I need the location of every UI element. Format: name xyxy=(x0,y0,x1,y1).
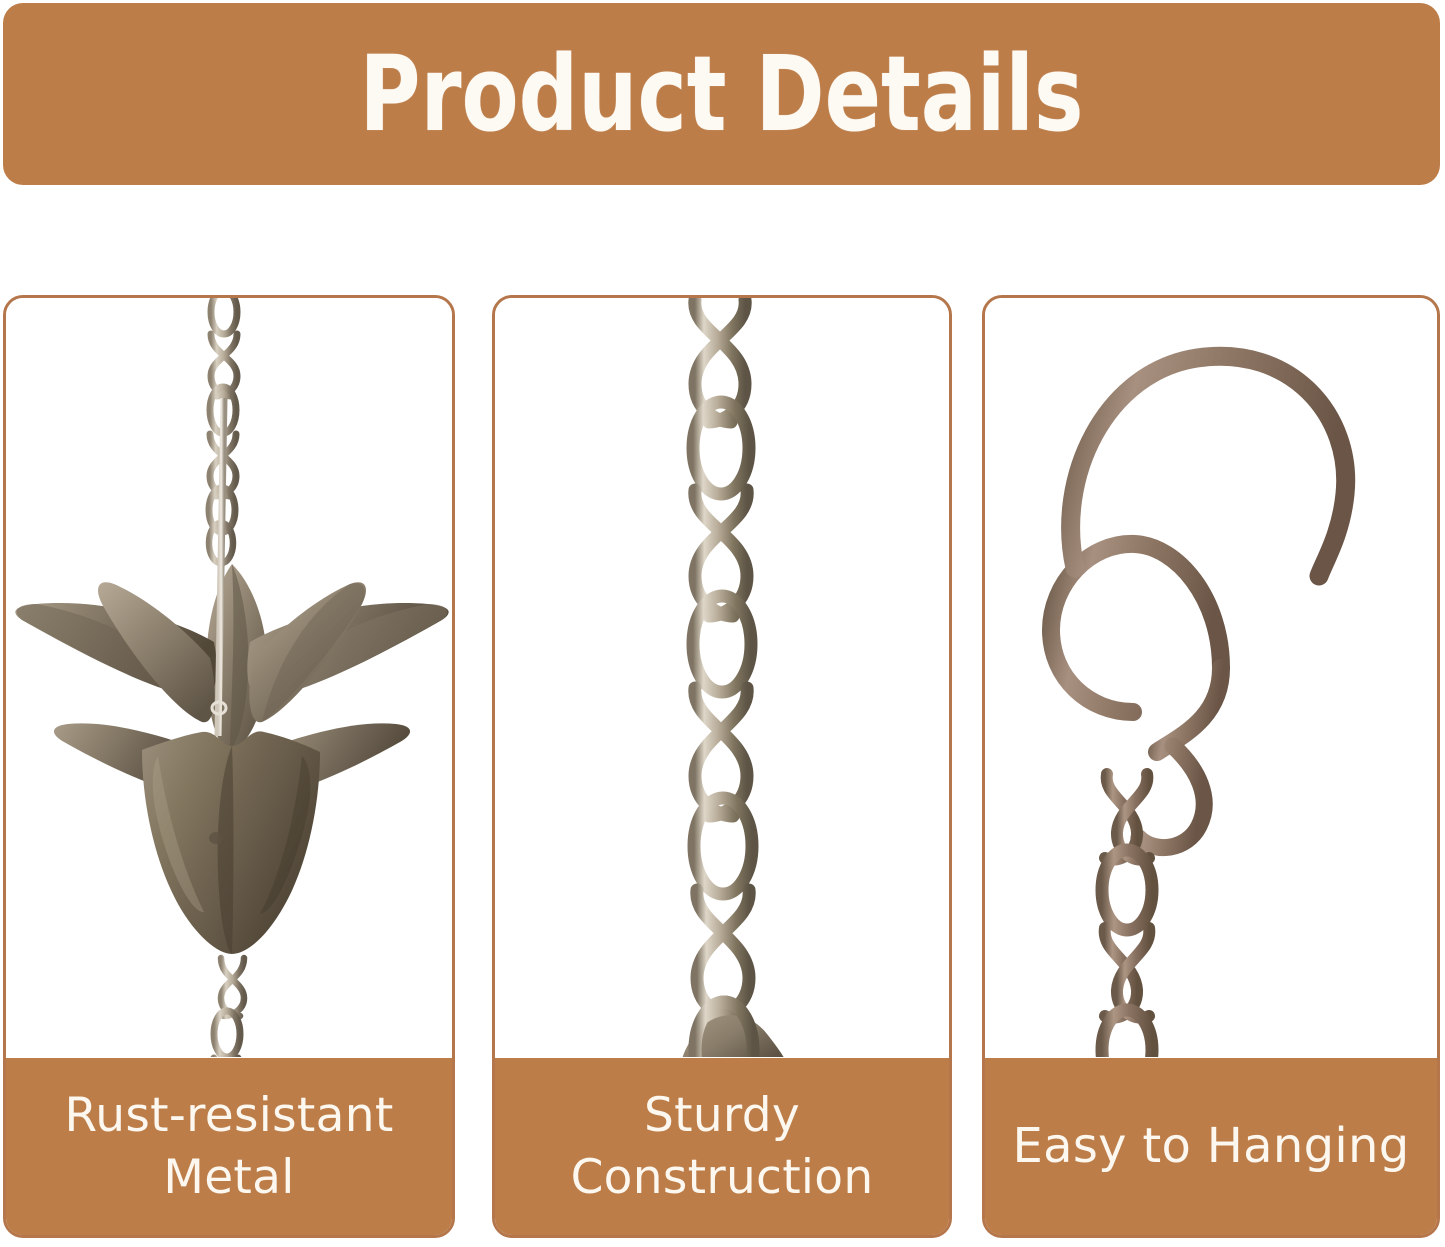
chain-attached xyxy=(1102,774,1152,1057)
chain-links-icon xyxy=(495,298,949,1057)
caption-bar-sturdy-construction: SturdyConstruction xyxy=(494,1058,950,1236)
detail-card-sturdy-construction[interactable]: SturdyConstruction xyxy=(492,295,952,1238)
caption-label: Rust-resistantMetal xyxy=(52,1085,405,1209)
product-detail-panels: Rust-resistantMetal xyxy=(0,295,1445,1240)
chain-lower xyxy=(214,958,244,1057)
caption-label: SturdyConstruction xyxy=(559,1085,886,1209)
caption-bar-easy-to-hanging: Easy to Hanging xyxy=(984,1058,1438,1236)
detail-card-rust-resistant-metal[interactable]: Rust-resistantMetal xyxy=(3,295,455,1238)
s-hook-icon xyxy=(985,298,1437,1057)
chain-links-image xyxy=(495,298,949,1057)
flower-chain-image xyxy=(6,298,452,1057)
detail-card-easy-to-hanging[interactable]: Easy to Hanging xyxy=(982,295,1440,1238)
header-banner: Product Details xyxy=(3,3,1440,185)
hook-arc-bottom xyxy=(1139,746,1204,848)
page-title: Product Details xyxy=(359,42,1083,146)
caption-bar-rust-resistant-metal: Rust-resistantMetal xyxy=(5,1058,453,1236)
caption-label: Easy to Hanging xyxy=(1001,1115,1422,1178)
flower-cup xyxy=(142,731,320,954)
s-hook-image xyxy=(985,298,1437,1057)
flower-chain-icon xyxy=(6,298,452,1057)
chain-link-series xyxy=(693,300,753,1057)
